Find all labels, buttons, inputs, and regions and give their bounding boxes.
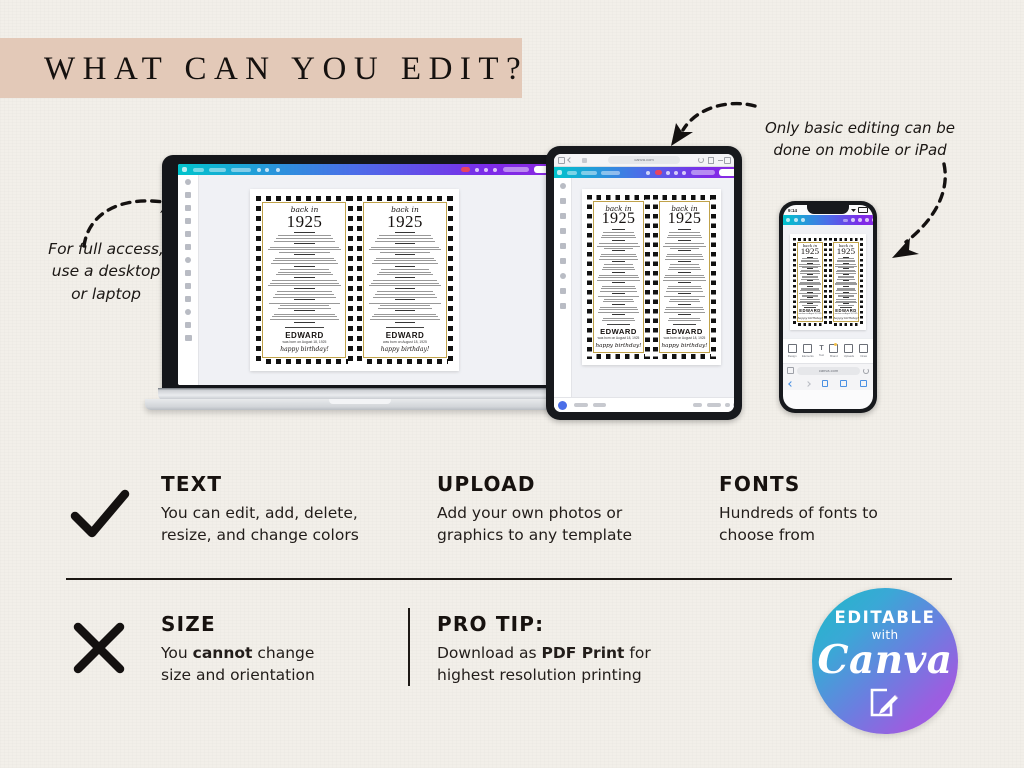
- timer-button-tablet[interactable]: [593, 403, 606, 407]
- poster-text-rule: [379, 235, 431, 236]
- sidebar-brand-icon-tablet[interactable]: [560, 228, 566, 234]
- canva-canvas-phone[interactable]: back in1925EDWARDwas born on August 18, …: [783, 225, 873, 338]
- tool-brand[interactable]: Brand: [829, 344, 838, 359]
- poster-text-rule: [667, 237, 702, 238]
- poster-text-rule: [277, 291, 332, 292]
- canva-toolbar-phone[interactable]: [783, 215, 873, 225]
- magic-icon-phone[interactable]: [851, 218, 855, 222]
- badge-brand-label: Canva: [817, 641, 952, 680]
- feature-size-body-line2: size and orientation: [161, 664, 401, 686]
- poster-border-left: [653, 195, 658, 359]
- editing-menu[interactable]: [231, 168, 251, 172]
- horizontal-divider: [66, 578, 952, 580]
- poster-text-rule: [272, 316, 338, 317]
- file-menu-tablet[interactable]: [567, 171, 577, 175]
- annotation-left: For full access, use a desktop or laptop: [36, 238, 176, 305]
- sidebar-uploads-icon[interactable]: [185, 231, 191, 237]
- poster-section-rule: [395, 322, 416, 323]
- vertical-divider: [408, 608, 410, 686]
- canva-canvas-tablet[interactable]: back in1925EDWARDwas born on August 18, …: [572, 178, 734, 399]
- poster-section-rule: [807, 268, 813, 269]
- poster-year: 1925: [365, 213, 445, 230]
- poster-border-left: [587, 195, 592, 359]
- poster-section-rule: [678, 272, 690, 273]
- poster-section-rule: [612, 240, 624, 241]
- laptop-device: back in1925EDWARDwas born on August 18, …: [158, 155, 562, 420]
- poster-text-rule: [802, 305, 818, 306]
- poster-text-rule: [601, 237, 636, 238]
- poster-border-top: [829, 238, 863, 241]
- feature-text: TEXT You can edit, add, delete, resize, …: [161, 472, 401, 547]
- poster-text-rule: [599, 309, 638, 310]
- poster-section-rule: [843, 257, 849, 258]
- poster-text-rule: [370, 319, 440, 320]
- back-icon-phone[interactable]: [788, 381, 794, 387]
- tab-overview-icon[interactable]: [724, 157, 731, 164]
- canva-sidebar-tablet[interactable]: [554, 178, 572, 399]
- phone-device: 9:14 back in1925EDWARDwas born on August…: [779, 201, 877, 413]
- sidebar-design-icon-tablet[interactable]: [560, 183, 566, 189]
- poster-border-right: [645, 195, 650, 359]
- feature-size-body-line1: You cannot change: [161, 642, 401, 664]
- poster-closing: happy birthday!: [264, 347, 344, 354]
- url-bar-tablet[interactable]: canva.com: [608, 156, 680, 164]
- artboard-laptop[interactable]: back in1925EDWARDwas born on August 18, …: [250, 189, 459, 371]
- poster-text-rule: [599, 259, 638, 260]
- poster-text-rule: [603, 267, 634, 268]
- sidebar-more-icon-tablet[interactable]: [560, 303, 566, 309]
- poster-section-rule: [395, 310, 416, 311]
- aa-icon-phone[interactable]: [787, 367, 794, 374]
- feature-text-body-line2: resize, and change colors: [161, 524, 401, 546]
- fullscreen-tablet[interactable]: [733, 403, 734, 407]
- check-icon: [70, 488, 130, 540]
- poster-text-rule: [604, 299, 633, 300]
- arrow-to-phone-icon: [876, 158, 954, 268]
- tool-design[interactable]: Design: [788, 344, 797, 359]
- poster-text-rule: [668, 235, 701, 236]
- sidebar-apps-icon[interactable]: [185, 270, 191, 276]
- poster-text-rule: [601, 288, 636, 289]
- artboard-phone[interactable]: back in1925EDWARDwas born on August 18, …: [790, 234, 866, 330]
- poster-text-rule: [278, 272, 331, 273]
- poster-text-rule: [597, 246, 639, 247]
- poster-right-tablet[interactable]: back in1925EDWARDwas born on August 18, …: [653, 195, 716, 359]
- poster-border-bottom: [256, 359, 353, 364]
- status-icons: [851, 207, 868, 213]
- undo-icon-tablet[interactable]: [646, 171, 650, 175]
- poster-text-rule: [669, 267, 700, 268]
- tabs-icon-phone[interactable]: [860, 380, 867, 387]
- reload-icon-phone[interactable]: [863, 368, 869, 374]
- poster-border-right: [711, 195, 716, 359]
- help-icon[interactable]: [493, 168, 497, 172]
- tablet-screen[interactable]: canva.com: [554, 154, 734, 412]
- status-time: 9:14: [788, 208, 797, 213]
- editing-menu-tablet[interactable]: [601, 171, 620, 175]
- feature-text-title: TEXT: [161, 472, 401, 496]
- poster-text-rule: [377, 238, 433, 239]
- feature-size: SIZE You cannot change size and orientat…: [161, 612, 401, 687]
- poster-text-rule: [602, 235, 635, 236]
- feature-fonts-title: FONTS: [719, 472, 949, 496]
- canva-bottombar-tablet[interactable]: [554, 397, 734, 412]
- poster-section-rule: [843, 263, 849, 264]
- laptop-trackpad-notch: [329, 399, 391, 404]
- resize-icon-phone[interactable]: [843, 219, 848, 222]
- poster-left-phone[interactable]: back in1925EDWARDwas born on August 18, …: [793, 238, 827, 326]
- poster-text-rule: [275, 294, 334, 295]
- poster-text-rule: [268, 285, 341, 286]
- share-icon-tablet[interactable]: [708, 157, 714, 164]
- poster-text-rule: [378, 308, 432, 309]
- feature-protip-title: PRO TIP:: [437, 612, 737, 636]
- poster-section-rule: [395, 254, 416, 255]
- poster-text-rule: [669, 301, 701, 302]
- poster-section-rule: [395, 266, 416, 267]
- poster-text-rule: [374, 314, 436, 315]
- poster-section-rule: [395, 232, 416, 233]
- poster-text-rule: [280, 305, 330, 306]
- download-icon-tablet[interactable]: [674, 171, 678, 175]
- poster-text-rule: [279, 252, 330, 253]
- poster-text-rule: [369, 303, 440, 304]
- poster-text-rule: [838, 305, 854, 306]
- undo-icon-phone[interactable]: [794, 218, 798, 222]
- poster-border-bottom: [653, 354, 716, 359]
- tabs-icon[interactable]: [582, 158, 587, 163]
- pages-button-tablet[interactable]: [707, 403, 721, 407]
- poster-text-rule: [664, 277, 704, 278]
- print-with-canva-tablet[interactable]: [691, 170, 715, 175]
- poster-border-top: [653, 195, 716, 200]
- url-bar-phone[interactable]: canva.com: [797, 367, 860, 375]
- poster-year: 1925: [661, 211, 708, 227]
- poster-text-rule: [602, 269, 635, 270]
- page-title: WHAT CAN YOU EDIT?: [44, 47, 514, 91]
- share-icon-phone[interactable]: [872, 218, 873, 222]
- poster-section-rule: [807, 274, 813, 275]
- poster-border-top: [587, 195, 650, 200]
- poster-section-rule: [294, 266, 315, 267]
- poster-section-rule: [612, 314, 624, 315]
- redo-icon[interactable]: [265, 168, 269, 172]
- feature-text-body-line1: You can edit, add, delete,: [161, 502, 401, 524]
- poster-text-rule: [665, 275, 703, 276]
- poster-text-rule: [665, 309, 704, 310]
- poster-section-rule: [612, 304, 624, 305]
- poster-right[interactable]: back in1925EDWARDwas born on August 18, …: [357, 196, 454, 364]
- poster-text-rule: [602, 286, 634, 287]
- sidebar-extra2-icon[interactable]: [185, 309, 191, 315]
- poster-most-importantly: [285, 327, 323, 328]
- feature-size-title: SIZE: [161, 612, 401, 636]
- feature-text-body: You can edit, add, delete, resize, and c…: [161, 502, 401, 547]
- tablet-device: canva.com: [546, 146, 742, 420]
- poster-text-rule: [270, 247, 338, 248]
- poster-text-rule: [371, 283, 440, 284]
- poster-section-rule: [843, 274, 849, 275]
- poster-year: 1925: [798, 247, 823, 256]
- poster-section-rule: [612, 229, 624, 230]
- poster-text-rule: [372, 263, 439, 264]
- help-fab-tablet[interactable]: [558, 401, 567, 410]
- sidebar-extra1-icon[interactable]: [185, 296, 191, 302]
- settings-icon[interactable]: [276, 168, 280, 172]
- poster-section-rule: [612, 282, 624, 283]
- sidebar-projects-icon-tablet[interactable]: [560, 273, 566, 279]
- safari-bar-tablet[interactable]: canva.com: [554, 154, 734, 167]
- poster-section-rule: [843, 268, 849, 269]
- poster-section-rule: [612, 261, 624, 262]
- poster-border-bottom: [587, 354, 650, 359]
- poster-text-rule: [377, 291, 432, 292]
- poster-text-rule: [666, 256, 703, 257]
- canva-canvas-laptop[interactable]: back in1925EDWARDwas born on August 18, …: [199, 175, 550, 385]
- poster-text-rule: [379, 272, 432, 273]
- sidebar-toggle-icon[interactable]: [558, 157, 565, 164]
- poster-text-rule: [603, 318, 634, 319]
- zoom-level-tablet[interactable]: [693, 403, 702, 407]
- poster-text-rule: [372, 316, 438, 317]
- poster-birth-line: was born on August 18, 1925: [595, 337, 642, 341]
- poster-year: 1925: [834, 247, 859, 256]
- poster-text-rule: [667, 288, 702, 289]
- poster-border-top: [357, 196, 454, 201]
- poster-text-rule: [600, 256, 637, 257]
- sidebar-projects-icon[interactable]: [185, 257, 191, 263]
- poster-text-rule: [268, 249, 340, 250]
- protip-bold: PDF Print: [541, 644, 624, 662]
- poster-section-rule: [294, 254, 315, 255]
- poster-text-rule: [666, 307, 702, 308]
- poster-text-rule: [375, 294, 434, 295]
- poster-border-right: [860, 238, 863, 326]
- poster-text-rule: [280, 269, 329, 270]
- poster-section-rule: [294, 243, 315, 244]
- print-with-canva-button[interactable]: [503, 167, 529, 172]
- badge-editable-label: EDITABLE: [834, 608, 935, 627]
- download-icon[interactable]: [484, 168, 488, 172]
- sidebar-elements-icon-tablet[interactable]: [560, 198, 566, 204]
- poster-text-rule: [600, 307, 636, 308]
- feature-protip-body: Download as PDF Print for highest resolu…: [437, 642, 737, 687]
- forward-icon-phone[interactable]: [805, 381, 811, 387]
- sidebar-elements-icon[interactable]: [185, 192, 191, 198]
- poster-text-rule: [278, 235, 330, 236]
- avatar-icon[interactable]: [475, 168, 479, 172]
- annotation-left-line1: For full access,: [36, 238, 176, 260]
- poster-section-rule: [395, 243, 416, 244]
- poster-text-rule: [369, 249, 441, 250]
- poster-text-rule: [602, 320, 635, 321]
- feature-fonts: FONTS Hundreds of fonts to choose from: [719, 472, 949, 547]
- sidebar-draw-icon[interactable]: [185, 244, 191, 250]
- size-post: change: [252, 644, 314, 662]
- x-icon: [71, 620, 127, 676]
- poster-section-rule: [294, 299, 315, 300]
- poster-section-rule: [807, 263, 813, 264]
- poster-border-bottom: [357, 359, 454, 364]
- feature-upload-body-line1: Add your own photos or: [437, 502, 687, 524]
- laptop-screen[interactable]: back in1925EDWARDwas born on August 18, …: [178, 164, 550, 385]
- poster-text-rule: [274, 314, 336, 315]
- grid-view-tablet[interactable]: [725, 403, 730, 407]
- avatar-icon-tablet[interactable]: [666, 171, 670, 175]
- poster-text-rule: [276, 238, 332, 239]
- poster-text-rule: [380, 252, 431, 253]
- poster-text-rule: [381, 269, 430, 270]
- feature-fonts-body: Hundreds of fonts to choose from: [719, 502, 949, 547]
- poster-left-tablet[interactable]: back in1925EDWARDwas born on August 18, …: [587, 195, 650, 359]
- poster-section-rule: [678, 229, 690, 230]
- poster-section-rule: [807, 286, 813, 287]
- laptop-lid: back in1925EDWARDwas born on August 18, …: [162, 155, 558, 393]
- poster-text-rule: [271, 263, 338, 264]
- poster-closing: happy birthday!: [834, 317, 859, 320]
- poster-text-rule: [374, 260, 437, 261]
- sidebar-apps-icon-tablet[interactable]: [560, 288, 566, 294]
- poster-section-rule: [843, 297, 849, 298]
- poster-text-rule: [668, 286, 700, 287]
- redo-icon-phone[interactable]: [801, 218, 805, 222]
- canva-toolbar-laptop[interactable]: [178, 164, 550, 175]
- poster-border-left: [829, 238, 832, 326]
- poster-section-rule: [678, 304, 690, 305]
- canva-toolbar-tablet[interactable]: [554, 167, 734, 178]
- back-icon[interactable]: [567, 157, 573, 163]
- poster-text-rule: [603, 301, 635, 302]
- protip-post: for: [624, 644, 650, 662]
- size-bold: cannot: [193, 644, 253, 662]
- poster-most-importantly: [673, 324, 696, 325]
- poster-text-rule: [663, 246, 705, 247]
- canva-sidebar-laptop[interactable]: [178, 175, 199, 385]
- phone-screen[interactable]: 9:14 back in1925EDWARDwas born on August…: [783, 205, 873, 409]
- poster-section-rule: [843, 303, 849, 304]
- poster-text-rule: [377, 274, 434, 275]
- poster-section-rule: [843, 292, 849, 293]
- poster-text-rule: [598, 312, 639, 313]
- menu-icon[interactable]: [182, 167, 187, 172]
- poster-text-rule: [601, 254, 635, 255]
- reload-icon[interactable]: [698, 157, 704, 163]
- safari-bar-phone[interactable]: canva.com: [783, 363, 873, 377]
- sidebar-text-icon-tablet[interactable]: [560, 213, 566, 219]
- resize-menu[interactable]: [209, 168, 226, 172]
- poster-closing: happy birthday!: [365, 347, 445, 354]
- feature-fonts-body-line2: choose from: [719, 524, 949, 546]
- poster-text-rule: [597, 280, 640, 281]
- record-badge[interactable]: [461, 167, 470, 172]
- poster-name: EDWARD: [264, 331, 344, 340]
- favorite-icon-phone[interactable]: [858, 218, 862, 222]
- poster-section-rule: [612, 293, 624, 294]
- poster-section-rule: [612, 250, 624, 251]
- poster-text-rule: [670, 248, 700, 249]
- menu-icon-tablet[interactable]: [557, 170, 562, 175]
- undo-icon[interactable]: [257, 168, 261, 172]
- tool-draw[interactable]: Draw: [859, 344, 868, 359]
- protip-pre: Download as: [437, 644, 541, 662]
- poster-border-left: [793, 238, 796, 326]
- tool-text[interactable]: T Text: [819, 345, 824, 358]
- poster-text-rule: [278, 308, 332, 309]
- poster-section-rule: [807, 292, 813, 293]
- poster-section-rule: [395, 277, 416, 278]
- annotation-left-line2: use a desktop: [36, 260, 176, 282]
- poster-right-phone[interactable]: back in1925EDWARDwas born on August 18, …: [829, 238, 863, 326]
- sidebar-more-icon[interactable]: [185, 283, 191, 289]
- poster-section-rule: [395, 299, 416, 300]
- sidebar-extra4-icon[interactable]: [185, 335, 192, 341]
- tool-elements[interactable]: Elements: [802, 344, 814, 359]
- poster-text-rule: [668, 269, 701, 270]
- sidebar-extra3-icon[interactable]: [185, 322, 191, 328]
- share-button-tablet[interactable]: [719, 169, 734, 176]
- tool-uploads[interactable]: Uploads: [844, 344, 854, 359]
- size-pre: You: [161, 644, 193, 662]
- menu-icon-phone[interactable]: [786, 218, 790, 222]
- sidebar-draw-icon-tablet[interactable]: [560, 258, 566, 264]
- poster-birth-line: was born on August 18, 1925: [661, 337, 708, 341]
- poster-name: EDWARD: [661, 328, 708, 337]
- annotation-right-line2: done on mobile or iPad: [740, 140, 980, 162]
- poster-closing: happy birthday!: [798, 317, 823, 320]
- notes-button-tablet[interactable]: [574, 403, 588, 407]
- sidebar-brand-icon[interactable]: [185, 218, 191, 224]
- poster-name: EDWARD: [595, 328, 642, 337]
- poster-text-rule: [668, 320, 701, 321]
- poster-text-rule: [270, 283, 339, 284]
- resize-menu-tablet[interactable]: [581, 171, 597, 175]
- editable-with-canva-badge[interactable]: EDITABLE with Canva: [812, 588, 958, 734]
- poster-section-rule: [395, 288, 416, 289]
- new-tab-icon[interactable]: [718, 160, 723, 161]
- poster-section-rule: [294, 232, 315, 233]
- poster-text-rule: [380, 305, 430, 306]
- poster-text-rule: [375, 241, 435, 242]
- safari-nav-phone[interactable]: [783, 377, 873, 390]
- record-badge-tablet[interactable]: [655, 170, 662, 175]
- poster-text-rule: [269, 303, 340, 304]
- artboard-tablet[interactable]: back in1925EDWARDwas born on August 18, …: [582, 189, 721, 365]
- poster-year: 1925: [595, 211, 642, 227]
- sidebar-uploads-icon-tablet[interactable]: [560, 243, 566, 249]
- poster-section-rule: [807, 297, 813, 298]
- help-icon-tablet[interactable]: [682, 171, 686, 175]
- poster-text-rule: [665, 243, 705, 244]
- canva-tools-phone[interactable]: Design Elements T Text Brand Uploads: [783, 338, 873, 363]
- sidebar-design-icon[interactable]: [185, 179, 191, 185]
- sidebar-text-icon[interactable]: [185, 205, 191, 211]
- poster-text-rule: [600, 291, 637, 292]
- wifi-icon: [851, 208, 856, 212]
- comment-icon-phone[interactable]: [865, 218, 869, 222]
- poster-section-rule: [807, 280, 813, 281]
- poster-section-rule: [678, 282, 690, 283]
- poster-text-rule: [373, 297, 436, 298]
- feature-fonts-body-line1: Hundreds of fonts to: [719, 502, 949, 524]
- poster-text-rule: [663, 280, 706, 281]
- bookmarks-icon-phone[interactable]: [840, 380, 847, 387]
- poster-text-rule: [667, 254, 701, 255]
- poster-left[interactable]: back in1925EDWARDwas born on August 18, …: [256, 196, 353, 364]
- share-icon-phone-nav[interactable]: [822, 380, 828, 387]
- poster-text-rule: [599, 275, 637, 276]
- poster-section-rule: [294, 277, 315, 278]
- file-menu[interactable]: [193, 168, 204, 172]
